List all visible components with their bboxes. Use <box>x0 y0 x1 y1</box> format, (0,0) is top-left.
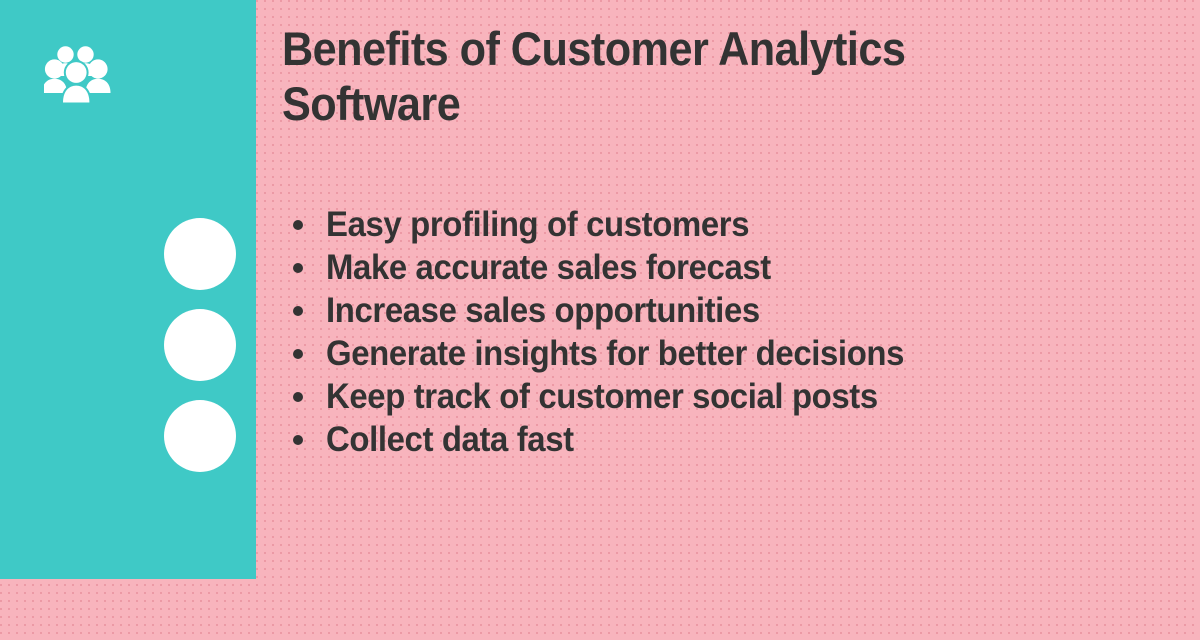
sidebar-panel <box>0 0 256 579</box>
users-group-icon <box>44 42 112 104</box>
bullet-dot-icon <box>293 306 303 316</box>
decorative-circle-1 <box>164 218 236 290</box>
list-item: Collect data fast <box>290 418 1110 461</box>
bullet-dot-icon <box>293 349 303 359</box>
list-item: Easy profiling of customers <box>290 203 1110 246</box>
bullet-dot-icon <box>293 263 303 273</box>
list-item: Generate insights for better decisions <box>290 332 1110 375</box>
slide-canvas: Benefits of Customer Analytics Software … <box>0 0 1200 640</box>
list-item-label: Make accurate sales forecast <box>326 246 771 289</box>
content-column: Benefits of Customer Analytics Software … <box>282 0 1200 640</box>
bullet-dot-icon <box>293 392 303 402</box>
benefits-list: Easy profiling of customers Make accurat… <box>290 203 1110 461</box>
bullet-dot-icon <box>293 220 303 230</box>
list-item-label: Keep track of customer social posts <box>326 375 878 418</box>
list-item-label: Generate insights for better decisions <box>326 332 904 375</box>
list-item-label: Increase sales opportunities <box>326 289 760 332</box>
decorative-dot-stack <box>164 218 236 472</box>
page-title: Benefits of Customer Analytics Software <box>282 22 981 132</box>
list-item: Increase sales opportunities <box>290 289 1110 332</box>
decorative-circle-2 <box>164 309 236 381</box>
decorative-circle-3 <box>164 400 236 472</box>
list-item-label: Easy profiling of customers <box>326 203 749 246</box>
list-item-label: Collect data fast <box>326 418 574 461</box>
list-item: Make accurate sales forecast <box>290 246 1110 289</box>
list-item: Keep track of customer social posts <box>290 375 1110 418</box>
bullet-dot-icon <box>293 435 303 445</box>
